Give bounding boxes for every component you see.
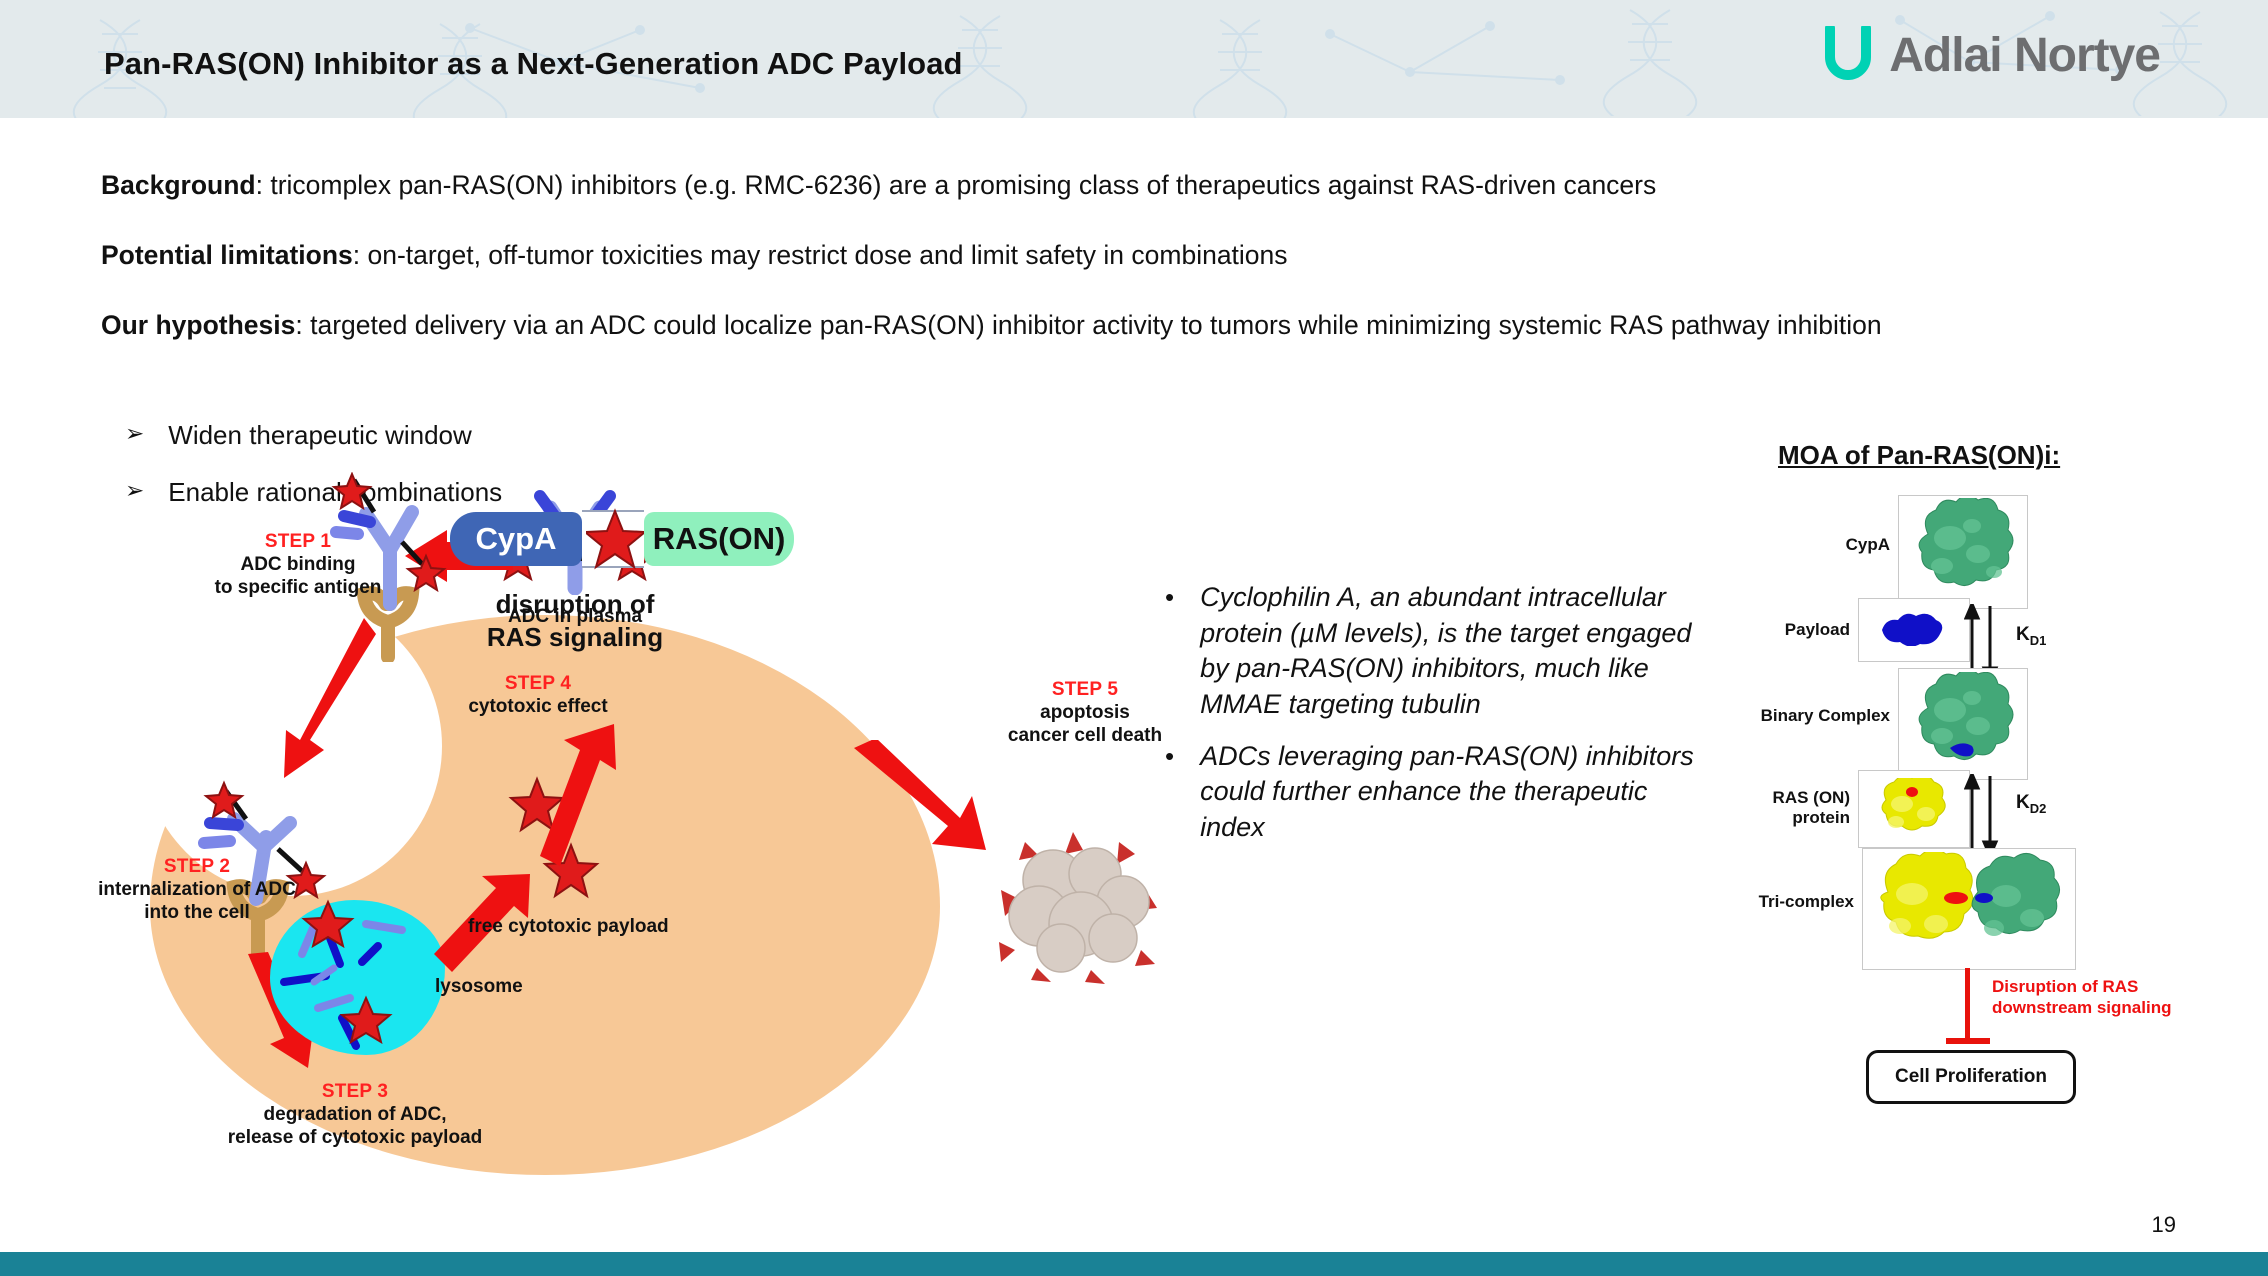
moa-ras-protein-label: RAS (ON) protein	[1678, 788, 1850, 829]
step-1-desc-line1: ADC binding	[198, 553, 398, 576]
list-item: • Cyclophilin A, an abundant intracellul…	[1165, 580, 1705, 723]
payload-star-icon	[586, 508, 644, 570]
free-payload-label: free cytotoxic payload	[468, 915, 758, 939]
step-3-label: STEP 3 degradation of ADC, release of cy…	[190, 1080, 520, 1150]
note-text: Cyclophilin A, an abundant intracellular…	[1200, 580, 1705, 723]
kd1-letter: K	[2016, 624, 2030, 645]
hypothesis-text: : targeted delivery via an ADC could loc…	[295, 310, 1881, 340]
moa-disruption-line2: downstream signaling	[1992, 997, 2171, 1018]
logo-text: Adlai Nortye	[1889, 32, 2160, 80]
step-1-label: STEP 1 ADC binding to specific antigen	[198, 530, 398, 600]
kd1-subscript: D1	[2030, 633, 2047, 648]
moa-cypa-label: CypA	[1740, 535, 1890, 555]
background-label: Background	[101, 170, 256, 200]
moa-disruption-label: Disruption of RAS downstream signaling	[1992, 976, 2171, 1019]
moa-disruption-line1: Disruption of RAS	[1992, 976, 2171, 997]
limitations-label: Potential limitations	[101, 240, 353, 270]
slide: Pan-RAS(ON) Inhibitor as a Next-Generati…	[0, 0, 2268, 1276]
step-1-desc-line2: to specific antigen	[198, 576, 398, 599]
kd2-letter: K	[2016, 792, 2030, 813]
arrow-bullet-icon: ➢	[125, 477, 144, 503]
inhibition-line	[1965, 968, 1970, 1040]
cypa-pill-label: CypA	[450, 512, 582, 566]
step-3-desc-line1: degradation of ADC,	[190, 1103, 520, 1126]
hypothesis-label: Our hypothesis	[101, 310, 295, 340]
moa-panel: MOA of Pan-RAS(ON)i: CypA Payload	[1740, 440, 2220, 1160]
ras-on-protein-icon	[1872, 778, 1954, 840]
disruption-line2: RAS signaling	[460, 621, 690, 654]
background-text: : tricomplex pan-RAS(ON) inhibitors (e.g…	[256, 170, 1657, 200]
limitations-paragraph: Potential limitations: on-target, off-tu…	[101, 238, 2161, 274]
kd2-subscript: D2	[2030, 801, 2047, 816]
hypothesis-notes-list: • Cyclophilin A, an abundant intracellul…	[1165, 580, 1705, 861]
kd2-label: KD2	[2016, 792, 2046, 816]
red-arrow-internalization-icon	[272, 612, 382, 802]
moa-title: MOA of Pan-RAS(ON)i:	[1778, 440, 2060, 471]
step-3-desc-line2: release of cytotoxic payload	[190, 1126, 520, 1149]
lysosome-contents-icon	[270, 898, 450, 1058]
slide-header: Pan-RAS(ON) Inhibitor as a Next-Generati…	[0, 0, 2268, 118]
cell-proliferation-box: Cell Proliferation	[1866, 1050, 2076, 1104]
background-paragraph: Background: tricomplex pan-RAS(ON) inhib…	[101, 168, 2161, 204]
list-item: • ADCs leveraging pan-RAS(ON) inhibitors…	[1165, 739, 1705, 846]
step-1-number: STEP 1	[198, 530, 398, 553]
list-item-label: Widen therapeutic window	[168, 420, 472, 451]
adc-mechanism-diagram: ADC in plasma STEP 1 ADC bi	[150, 500, 1160, 1190]
binary-complex-protein-icon	[1906, 672, 2018, 776]
page-title: Pan-RAS(ON) Inhibitor as a Next-Generati…	[104, 46, 963, 82]
lysosome-label: lysosome	[435, 975, 575, 999]
pill-connector	[582, 510, 644, 568]
payload-molecule-icon	[1876, 612, 1948, 646]
red-arrow-apoptosis-icon	[850, 740, 990, 860]
step-4-desc: cytotoxic effect	[438, 695, 638, 718]
moa-payload-label: Payload	[1700, 620, 1850, 640]
list-item: ➢ Widen therapeutic window	[125, 420, 472, 451]
moa-ras-label-line2: protein	[1678, 808, 1850, 828]
note-text: ADCs leveraging pan-RAS(ON) inhibitors c…	[1200, 739, 1705, 846]
disruption-ras-signaling-label: disruption of RAS signaling	[460, 588, 690, 653]
company-logo: Adlai Nortye	[1821, 26, 2160, 86]
moa-ras-label-line1: RAS (ON)	[1678, 788, 1850, 808]
disruption-line1: disruption of	[460, 588, 690, 621]
kd2-equilibrium-arrows-icon	[1964, 774, 2004, 856]
arrow-bullet-icon: ➢	[125, 420, 144, 446]
bullet-dot-icon: •	[1165, 739, 1174, 846]
red-arrow-cytotoxic-effect-icon	[538, 722, 628, 872]
inhibition-bar-icon	[1946, 1038, 1990, 1044]
cypa-ras-complex-pill: CypA RAS(ON)	[450, 510, 794, 568]
step-3-number: STEP 3	[190, 1080, 520, 1103]
adlai-nortye-mark-icon	[1821, 26, 1875, 86]
ras-on-pill-label: RAS(ON)	[644, 512, 794, 566]
kd1-label: KD1	[2016, 624, 2046, 648]
tri-complex-protein-icon	[1866, 852, 2070, 966]
footer-bar	[0, 1252, 2268, 1276]
apoptotic-cell-icon	[995, 830, 1160, 985]
bullet-dot-icon: •	[1165, 580, 1174, 723]
cypa-protein-icon	[1906, 498, 2018, 604]
step-4-number: STEP 4	[438, 672, 638, 695]
page-number: 19	[2152, 1212, 2176, 1238]
moa-tricomplex-label: Tri-complex	[1668, 892, 1854, 912]
step-2-number: STEP 2	[62, 855, 332, 878]
hypothesis-paragraph: Our hypothesis: targeted delivery via an…	[101, 308, 2141, 344]
step-4-label: STEP 4 cytotoxic effect	[438, 672, 638, 718]
moa-binary-complex-label: Binary Complex	[1688, 706, 1890, 726]
limitations-text: : on-target, off-tumor toxicities may re…	[353, 240, 1288, 270]
